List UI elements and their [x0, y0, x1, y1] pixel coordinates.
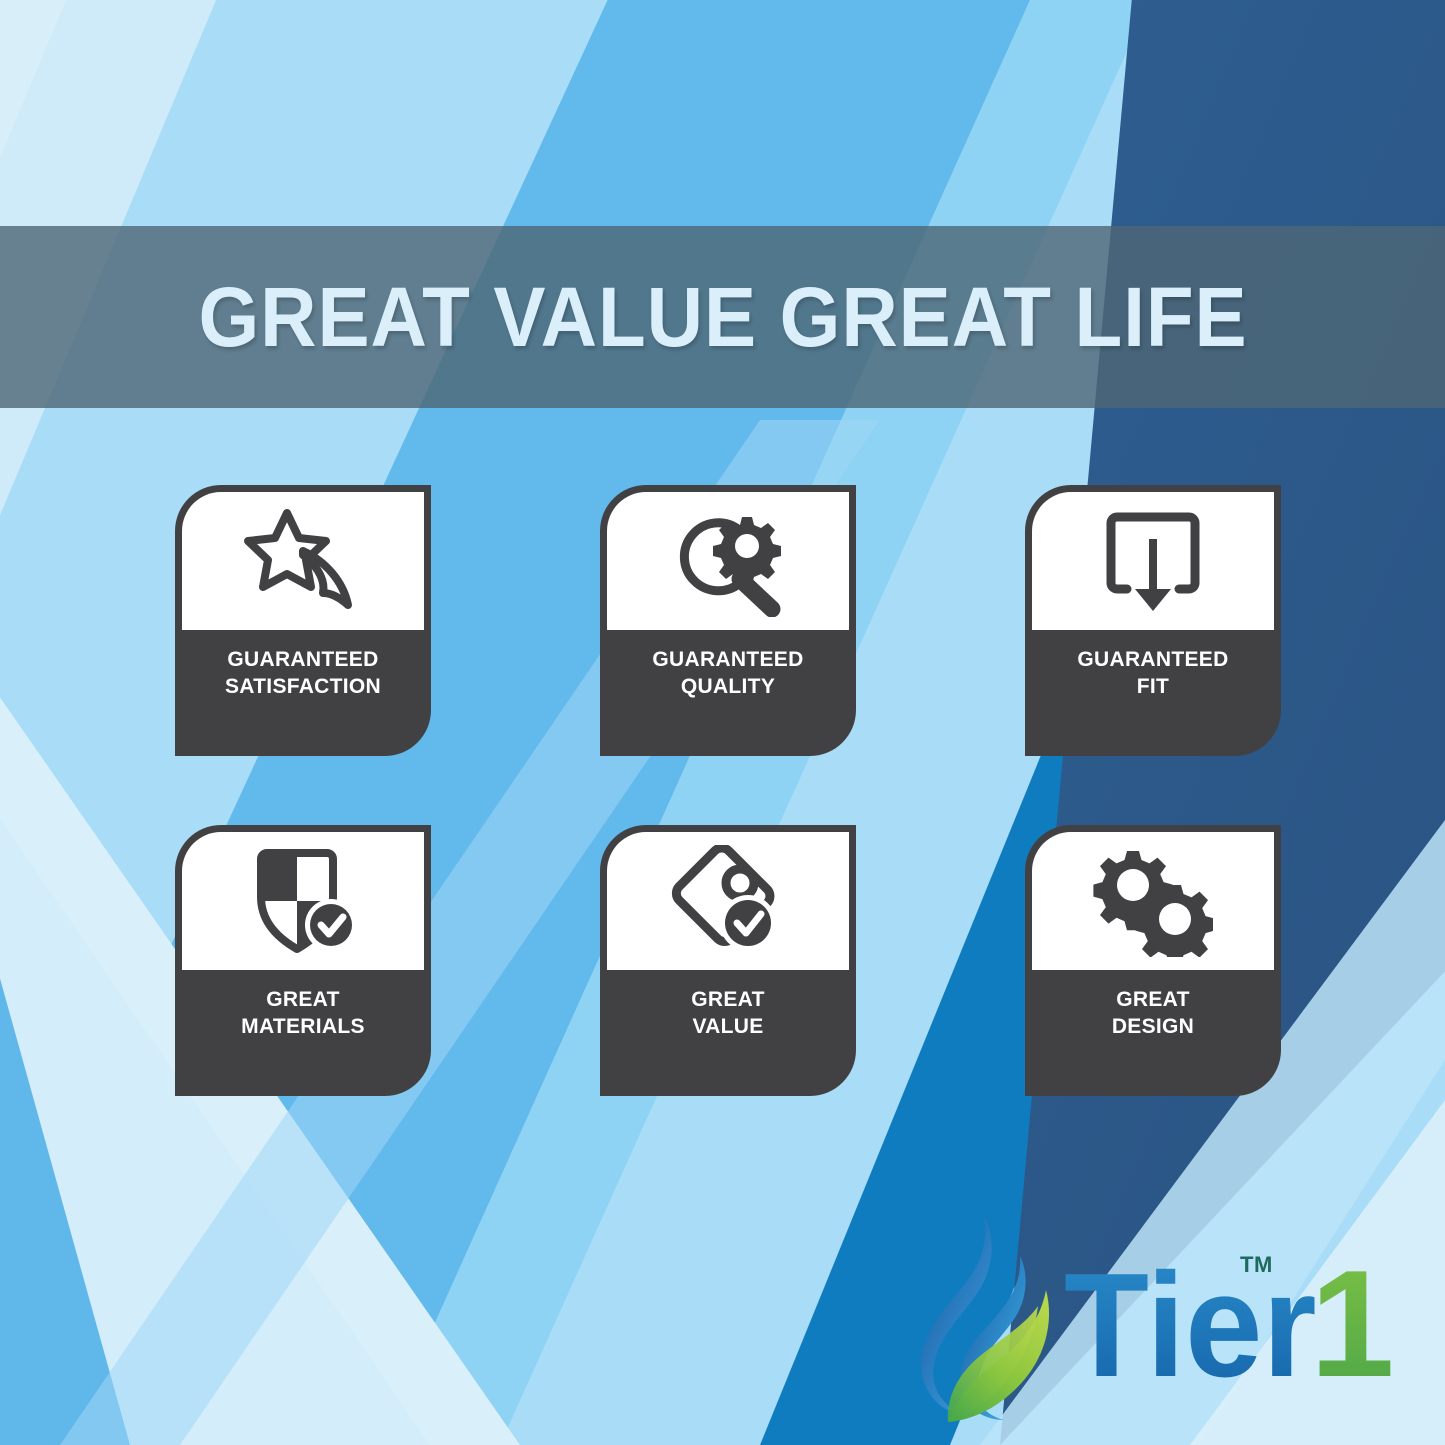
card-label-line2: MATERIALS — [183, 1014, 423, 1041]
card-label: GUARANTEED SATISFACTION — [175, 647, 431, 701]
card-label-line2: VALUE — [608, 1014, 848, 1041]
brand-logo[interactable]: Tier 1 TM — [912, 1208, 1412, 1436]
benefit-card-guaranteed-fit[interactable]: GUARANTEED FIT — [1025, 485, 1281, 756]
svg-text:Tier: Tier — [1064, 1264, 1317, 1400]
shield-check-icon — [243, 845, 363, 957]
benefit-card-grid: GUARANTEED SATISFACTION — [175, 485, 1275, 1096]
card-label: GREAT MATERIALS — [175, 987, 431, 1041]
card-label-line2: FIT — [1033, 674, 1273, 701]
icon-panel — [1032, 492, 1274, 630]
card-label: GUARANTEED QUALITY — [600, 647, 856, 701]
card-label-line1: GREAT — [691, 988, 764, 1011]
page-title: GREAT VALUE GREAT LIFE — [198, 275, 1247, 359]
benefit-card-great-design[interactable]: GREAT DESIGN — [1025, 825, 1281, 1096]
two-gears-icon — [1093, 845, 1213, 957]
logo-wordmark: Tier 1 — [1064, 1264, 1414, 1400]
tier1-flame-leaf-icon — [912, 1208, 1072, 1436]
card-label-line2: DESIGN — [1033, 1014, 1273, 1041]
card-label: GREAT VALUE — [600, 987, 856, 1041]
card-label: GUARANTEED FIT — [1025, 647, 1281, 701]
headline-banner: GREAT VALUE GREAT LIFE — [0, 226, 1445, 408]
card-label: GREAT DESIGN — [1025, 987, 1281, 1041]
card-label-line1: GUARANTEED — [227, 648, 378, 671]
icon-panel — [182, 832, 424, 970]
price-tag-check-icon — [668, 845, 788, 957]
card-label-line1: GUARANTEED — [1077, 648, 1228, 671]
box-down-arrow-icon — [1097, 505, 1209, 617]
benefit-card-great-value[interactable]: GREAT VALUE — [600, 825, 856, 1096]
magnifier-gear-icon — [668, 505, 788, 617]
card-label-line1: GUARANTEED — [652, 648, 803, 671]
benefit-card-great-materials[interactable]: GREAT MATERIALS — [175, 825, 431, 1096]
shooting-star-icon — [243, 505, 363, 617]
promo-graphic: GREAT VALUE GREAT LIFE GUARANTEED SATISF… — [0, 0, 1445, 1445]
benefit-card-guaranteed-quality[interactable]: GUARANTEED QUALITY — [600, 485, 856, 756]
card-label-line2: SATISFACTION — [183, 674, 423, 701]
icon-panel — [607, 492, 849, 630]
card-label-line1: GREAT — [1116, 988, 1189, 1011]
card-label-line1: GREAT — [266, 988, 339, 1011]
icon-panel — [182, 492, 424, 630]
icon-panel — [607, 832, 849, 970]
benefit-card-guaranteed-satisfaction[interactable]: GUARANTEED SATISFACTION — [175, 485, 431, 756]
card-label-line2: QUALITY — [608, 674, 848, 701]
trademark-symbol: TM — [1240, 1252, 1273, 1278]
svg-text:1: 1 — [1310, 1264, 1395, 1400]
icon-panel — [1032, 832, 1274, 970]
